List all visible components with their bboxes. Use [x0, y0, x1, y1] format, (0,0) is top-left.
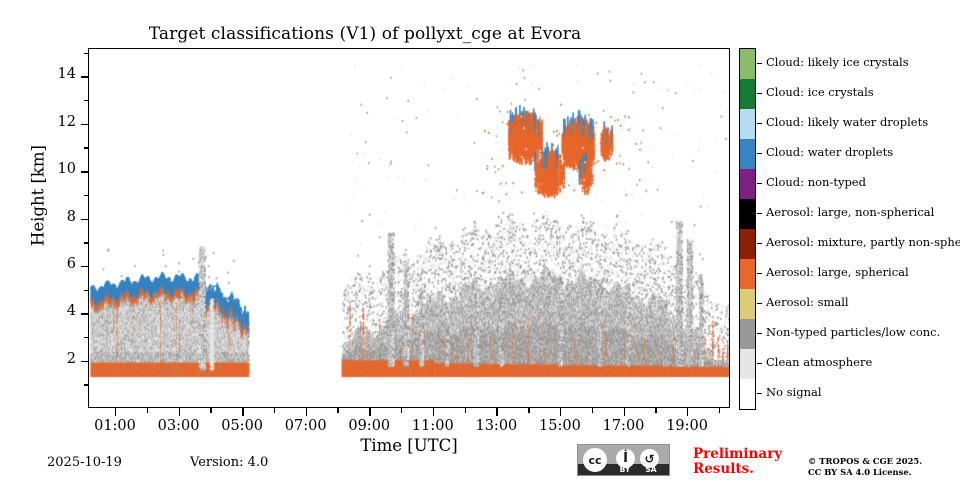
y-tick-6	[81, 266, 89, 267]
colorbar-label-4: Cloud: non-typed	[766, 175, 866, 189]
y-minor-tick-15	[84, 53, 89, 54]
y-tick-label-4: 4	[36, 303, 76, 319]
x-tick-2	[242, 408, 243, 416]
x-tick-label-7: 15:00	[530, 418, 590, 434]
footer-version: Version: 4.0	[190, 455, 268, 470]
colorbar-tick-9	[757, 333, 762, 334]
y-minor-tick-3	[84, 337, 89, 338]
preliminary-results-notice: Preliminary Results.	[693, 447, 789, 477]
copyright-notice: © TROPOS & CGE 2025. CC BY SA 4.0 Licens…	[808, 456, 922, 477]
colorbar-band-8	[740, 289, 755, 319]
y-minor-tick-13	[84, 100, 89, 101]
x-tick-1	[179, 408, 180, 416]
x-tick-label-9: 19:00	[657, 418, 717, 434]
preliminary-line-2: Results.	[693, 462, 789, 477]
x-tick-9	[687, 408, 688, 416]
colorbar-label-7: Aerosol: large, spherical	[766, 265, 909, 279]
target-classification-heatmap	[89, 49, 730, 408]
x-tick-3	[306, 408, 307, 416]
colorbar-tick-3	[757, 153, 762, 154]
colorbar-band-10	[740, 349, 755, 379]
x-tick-label-6: 13:00	[466, 418, 526, 434]
colorbar-tick-10	[757, 363, 762, 364]
preliminary-line-1: Preliminary	[693, 447, 789, 462]
y-tick-label-14: 14	[36, 66, 76, 82]
y-tick-4	[81, 313, 89, 314]
x-minor-tick-16	[592, 408, 593, 413]
plot-area[interactable]	[88, 48, 730, 408]
colorbar-band-1	[740, 79, 755, 109]
x-minor-tick-14	[528, 408, 529, 413]
colorbar-band-7	[740, 259, 755, 289]
x-minor-tick-8	[337, 408, 338, 413]
x-minor-tick-12	[465, 408, 466, 413]
y-tick-8	[81, 219, 89, 220]
x-tick-label-3: 07:00	[276, 418, 336, 434]
x-tick-label-1: 03:00	[149, 418, 209, 434]
x-minor-tick-18	[655, 408, 656, 413]
colorbar-label-6: Aerosol: mixture, partly non-spherical	[766, 235, 960, 249]
x-tick-7	[560, 408, 561, 416]
x-tick-label-2: 05:00	[212, 418, 272, 434]
x-tick-label-4: 09:00	[339, 418, 399, 434]
colorbar-label-11: No signal	[766, 385, 822, 399]
y-minor-tick-5	[84, 290, 89, 291]
y-tick-label-2: 2	[36, 351, 76, 367]
x-tick-8	[624, 408, 625, 416]
colorbar-label-0: Cloud: likely ice crystals	[766, 55, 909, 69]
x-tick-label-0: 01:00	[85, 418, 145, 434]
copyright-line-2: CC BY SA 4.0 License.	[808, 467, 922, 478]
y-tick-2	[81, 361, 89, 362]
colorbar-label-2: Cloud: likely water droplets	[766, 115, 928, 129]
colorbar-tick-4	[757, 183, 762, 184]
colorbar[interactable]	[739, 48, 756, 410]
y-axis-label: Height [km]	[29, 116, 48, 276]
colorbar-tick-8	[757, 303, 762, 304]
colorbar-band-0	[740, 49, 755, 79]
cc-by-label: BY	[612, 464, 638, 475]
colorbar-band-11	[740, 379, 755, 409]
y-tick-10	[81, 171, 89, 172]
chart-title: Target classifications (V1) of pollyxt_c…	[0, 24, 730, 44]
colorbar-label-5: Aerosol: large, non-spherical	[766, 205, 934, 219]
x-minor-tick-4	[210, 408, 211, 413]
y-minor-tick-7	[84, 242, 89, 243]
y-tick-12	[81, 124, 89, 125]
colorbar-band-2	[740, 109, 755, 139]
y-minor-tick-1	[84, 384, 89, 385]
y-minor-tick-11	[84, 147, 89, 148]
footer-date: 2025-10-19	[47, 455, 122, 470]
x-tick-label-5: 11:00	[403, 418, 463, 434]
colorbar-label-10: Clean atmosphere	[766, 355, 872, 369]
x-tick-label-8: 17:00	[594, 418, 654, 434]
colorbar-band-4	[740, 169, 755, 199]
colorbar-band-6	[740, 229, 755, 259]
colorbar-tick-0	[757, 63, 762, 64]
colorbar-tick-5	[757, 213, 762, 214]
x-minor-tick-20	[719, 408, 720, 413]
colorbar-tick-7	[757, 273, 762, 274]
x-minor-tick-2	[147, 408, 148, 413]
x-tick-0	[115, 408, 116, 416]
colorbar-band-5	[740, 199, 755, 229]
cc-sa-label: SA	[638, 464, 664, 475]
x-minor-tick-10	[401, 408, 402, 413]
x-tick-6	[496, 408, 497, 416]
copyright-line-1: © TROPOS & CGE 2025.	[808, 456, 922, 467]
cc-by-sa-license-icon[interactable]: cc İ ↺ BY SA	[577, 444, 670, 476]
colorbar-label-9: Non-typed particles/low conc.	[766, 325, 940, 339]
cc-icon: cc	[583, 448, 607, 472]
colorbar-band-3	[740, 139, 755, 169]
colorbar-label-3: Cloud: water droplets	[766, 145, 893, 159]
colorbar-label-8: Aerosol: small	[766, 295, 849, 309]
y-minor-tick-9	[84, 195, 89, 196]
x-tick-5	[433, 408, 434, 416]
colorbar-band-9	[740, 319, 755, 349]
x-tick-4	[369, 408, 370, 416]
colorbar-tick-6	[757, 243, 762, 244]
x-minor-tick-6	[274, 408, 275, 413]
colorbar-tick-2	[757, 123, 762, 124]
colorbar-label-1: Cloud: ice crystals	[766, 85, 874, 99]
colorbar-tick-11	[757, 393, 762, 394]
figure-canvas: Target classifications (V1) of pollyxt_c…	[0, 0, 960, 480]
y-tick-14	[81, 76, 89, 77]
colorbar-tick-1	[757, 93, 762, 94]
